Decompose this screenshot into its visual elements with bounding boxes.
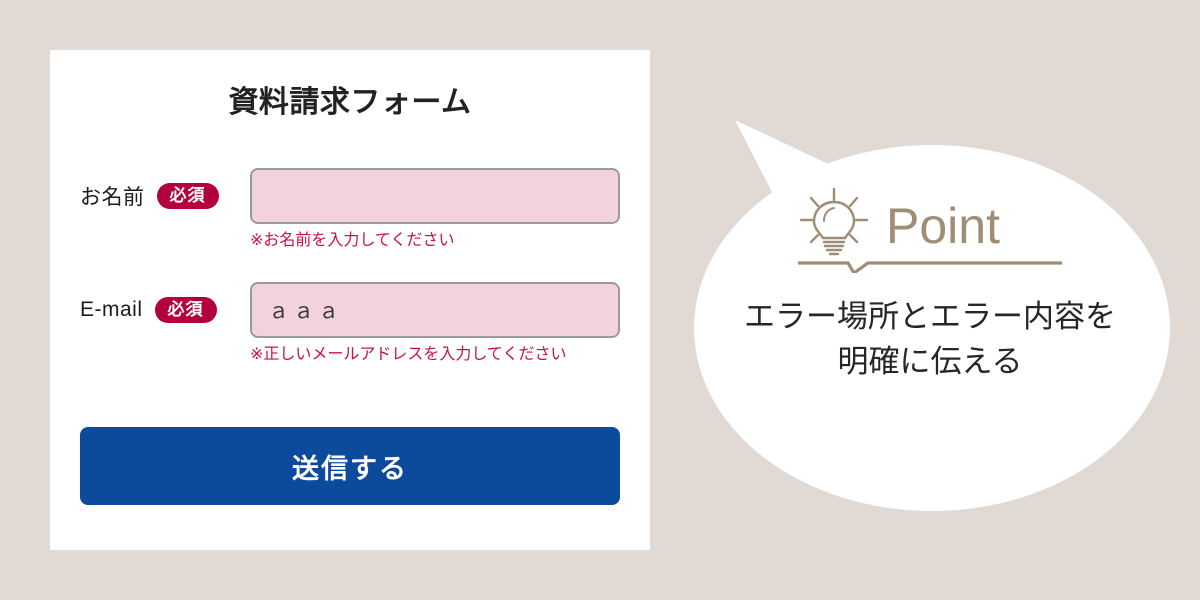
point-callout: Point エラー場所とエラー内容を 明確に伝える xyxy=(660,100,1200,540)
error-message-name: ※お名前を入力してください xyxy=(250,231,620,250)
page-title: 資料請求フォーム xyxy=(50,88,650,118)
required-badge-name: 必須 xyxy=(157,183,219,210)
field-label-group-email: E-mail 必須 xyxy=(80,282,250,338)
required-badge-email: 必須 xyxy=(155,297,217,324)
callout-content: Point エラー場所とエラー内容を 明確に伝える xyxy=(660,100,1200,540)
name-input[interactable] xyxy=(250,168,620,224)
field-label-group-name: お名前 必須 xyxy=(80,168,250,224)
error-message-email: ※正しいメールアドレスを入力してください xyxy=(250,345,620,364)
field-control-email: ※正しいメールアドレスを入力してください xyxy=(250,282,620,364)
field-label-name: お名前 xyxy=(80,181,145,211)
field-control-name: ※お名前を入力してください xyxy=(250,168,620,250)
lightbulb-icon: Point xyxy=(790,185,1070,273)
email-input[interactable] xyxy=(250,282,620,338)
point-heading-text: Point xyxy=(886,198,1000,254)
form-row-email: E-mail 必須 ※正しいメールアドレスを入力してください xyxy=(80,282,620,364)
point-heading-group: Point xyxy=(790,185,1070,273)
request-form-card: 資料請求フォーム お名前 必須 ※お名前を入力してください E-mail 必須 … xyxy=(50,50,650,550)
screenshot-stage: 資料請求フォーム お名前 必須 ※お名前を入力してください E-mail 必須 … xyxy=(0,0,1200,600)
form-row-name: お名前 必須 ※お名前を入力してください xyxy=(80,168,620,250)
submit-button[interactable]: 送信する xyxy=(80,427,620,505)
callout-body: エラー場所とエラー内容を 明確に伝える xyxy=(680,295,1180,385)
callout-body-line-2: 明確に伝える xyxy=(680,340,1180,385)
field-label-email: E-mail xyxy=(80,298,143,322)
callout-body-line-1: エラー場所とエラー内容を xyxy=(680,295,1180,340)
